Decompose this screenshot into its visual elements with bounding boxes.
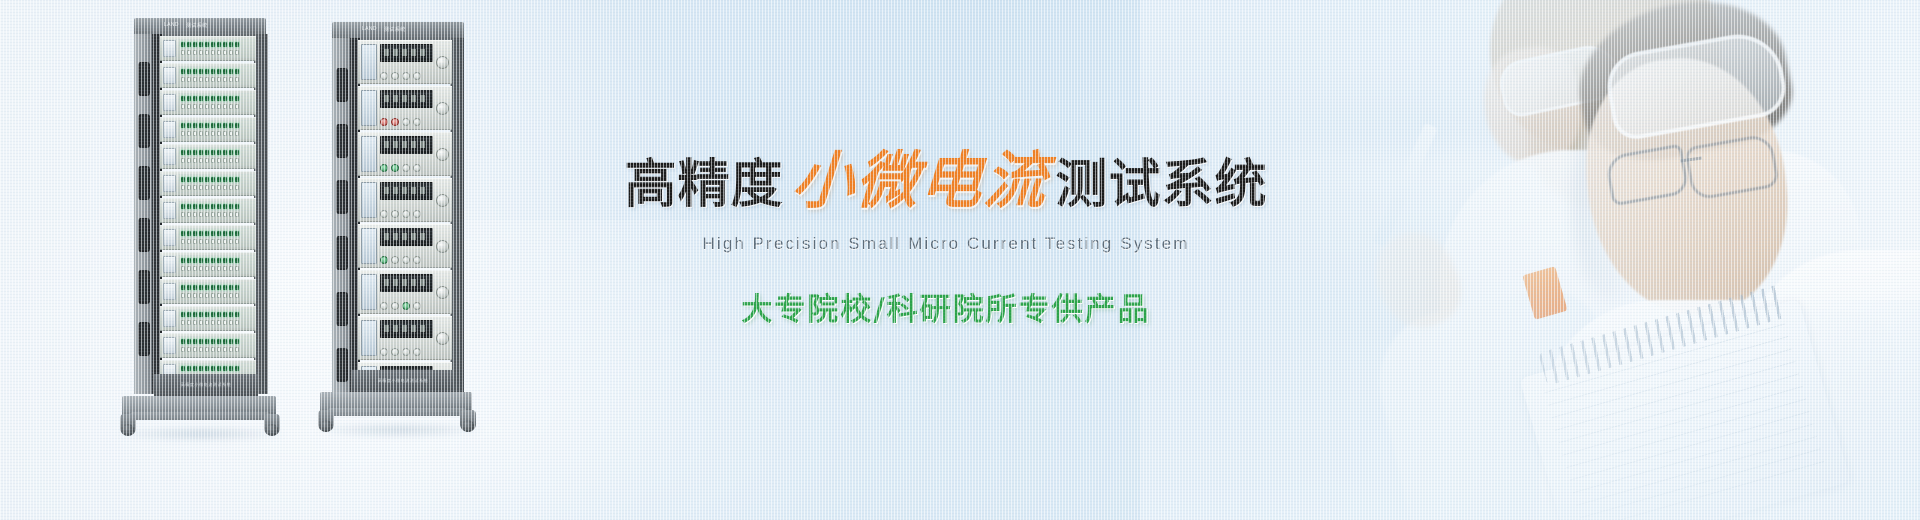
led-indicator [217, 204, 221, 209]
banner-subtitle-english: High Precision Small Micro Current Testi… [626, 234, 1266, 254]
led-indicator [211, 123, 215, 128]
module-center [380, 44, 433, 80]
led-slot [211, 77, 215, 82]
led-slot [193, 212, 197, 217]
led-indicator [187, 177, 191, 182]
led-indicator [205, 123, 209, 128]
led-indicator [199, 204, 203, 209]
led-indicator [205, 339, 209, 344]
module-lcd [361, 320, 377, 356]
module-button-row [380, 70, 433, 80]
led-slot [187, 158, 191, 163]
led-row [181, 285, 254, 290]
led-slot [199, 266, 203, 271]
rack-bottom-label-panel: 高精度小微电流测试系统 [154, 374, 258, 396]
led-slot [199, 104, 203, 109]
led-row [181, 177, 254, 182]
led-slot [187, 185, 191, 190]
led-indicator [223, 258, 227, 263]
rack-vent [336, 68, 348, 102]
led-slot [205, 212, 209, 217]
led-slot [223, 293, 227, 298]
module-button[interactable] [402, 302, 410, 310]
led-indicator [193, 42, 197, 47]
led-slot [211, 131, 215, 136]
led-indicator [205, 285, 209, 290]
led-slot [211, 347, 215, 352]
led-indicator [199, 258, 203, 263]
rack-right-post [254, 34, 268, 394]
product-banner: LAND 测试系统 [0, 0, 1920, 520]
led-slot [193, 185, 197, 190]
led-slot [211, 266, 215, 271]
module-knob[interactable] [436, 102, 449, 115]
led-slot [211, 185, 215, 190]
rack-vent [336, 124, 348, 158]
led-slot [229, 104, 233, 109]
module-button-row [380, 254, 433, 264]
led-slot [223, 131, 227, 136]
led-indicator [187, 312, 191, 317]
led-indicator [211, 231, 215, 236]
led-indicator [217, 177, 221, 182]
led-slot [229, 77, 233, 82]
led-indicator [223, 312, 227, 317]
rack-caster-left [318, 410, 334, 432]
led-slot [217, 293, 221, 298]
rack-module [160, 117, 256, 142]
led-indicator [235, 69, 239, 74]
led-slot [223, 158, 227, 163]
module-display [380, 320, 433, 338]
module-knob[interactable] [436, 332, 449, 345]
led-slot [181, 158, 185, 163]
module-led-array [179, 39, 256, 58]
module-button[interactable] [402, 118, 410, 126]
module-panel [163, 256, 176, 273]
led-indicator [193, 258, 197, 263]
led-indicator [229, 96, 233, 101]
led-indicator [205, 366, 209, 371]
module-button[interactable] [380, 210, 388, 218]
led-indicator [223, 231, 227, 236]
led-slot [229, 158, 233, 163]
led-indicator [181, 339, 185, 344]
led-row [181, 131, 254, 136]
led-indicator [235, 258, 239, 263]
led-indicator [229, 204, 233, 209]
led-indicator [199, 69, 203, 74]
led-indicator [181, 42, 185, 47]
led-indicator [217, 366, 221, 371]
led-indicator [187, 150, 191, 155]
led-slot [217, 212, 221, 217]
module-button[interactable] [413, 302, 421, 310]
led-indicator [229, 285, 233, 290]
rack-vent [138, 62, 150, 96]
led-indicator [229, 312, 233, 317]
led-slot [187, 347, 191, 352]
led-slot [217, 50, 221, 55]
led-slot [211, 104, 215, 109]
module-button[interactable] [402, 210, 410, 218]
module-center [380, 182, 433, 218]
led-indicator [205, 258, 209, 263]
led-slot [217, 77, 221, 82]
module-panel [163, 229, 176, 246]
led-slot [199, 158, 203, 163]
led-indicator [229, 177, 233, 182]
led-slot [217, 185, 221, 190]
instrument-module [358, 132, 452, 176]
led-row [181, 231, 254, 236]
banner-text-block: 高精度 小微电流 测试系统 High Precision Small Micro… [626, 150, 1266, 329]
led-row [181, 239, 254, 244]
led-indicator [217, 285, 221, 290]
led-slot [193, 50, 197, 55]
rack-module [160, 171, 256, 196]
led-indicator [235, 339, 239, 344]
led-indicator [235, 96, 239, 101]
led-indicator [199, 285, 203, 290]
led-slot [193, 347, 197, 352]
led-indicator [187, 123, 191, 128]
rack-brand-plate: LAND 测试系统 [164, 20, 268, 30]
led-slot [217, 347, 221, 352]
led-indicator [223, 150, 227, 155]
led-indicator [205, 312, 209, 317]
module-panel [163, 310, 176, 327]
led-indicator [199, 366, 203, 371]
module-button[interactable] [413, 72, 421, 80]
module-button[interactable] [391, 256, 399, 264]
module-button[interactable] [391, 164, 399, 172]
rack-vent [138, 166, 150, 200]
rack-model-label: 测试系统 [186, 22, 208, 29]
led-slot [193, 266, 197, 271]
rack-vent [336, 236, 348, 270]
led-slot [229, 212, 233, 217]
led-indicator [181, 312, 185, 317]
module-display [380, 44, 433, 62]
rack-module [160, 306, 256, 331]
rack-base-bar [130, 412, 270, 420]
led-indicator [199, 150, 203, 155]
led-slot [193, 293, 197, 298]
rack-body: LAND 测试系统 [318, 22, 476, 434]
led-row [181, 320, 254, 325]
rack-right-post [450, 38, 464, 398]
rack-base-bar [328, 408, 466, 416]
led-indicator [235, 204, 239, 209]
led-indicator [193, 96, 197, 101]
led-indicator [217, 69, 221, 74]
module-button-row [380, 300, 433, 310]
led-row [181, 293, 254, 298]
led-indicator [193, 285, 197, 290]
led-slot [205, 239, 209, 244]
rack-module [160, 63, 256, 88]
led-slot [235, 320, 239, 325]
rack-body: LAND 测试系统 [120, 18, 280, 438]
rack-vent [336, 348, 348, 382]
module-button[interactable] [413, 348, 421, 356]
module-button[interactable] [380, 118, 388, 126]
led-slot [199, 212, 203, 217]
led-row [181, 204, 254, 209]
module-display [380, 228, 433, 246]
led-indicator [223, 204, 227, 209]
led-slot [229, 266, 233, 271]
led-indicator [205, 69, 209, 74]
led-slot [181, 212, 185, 217]
led-indicator [223, 42, 227, 47]
led-indicator [199, 312, 203, 317]
led-row [181, 50, 254, 55]
led-slot [181, 104, 185, 109]
module-button[interactable] [413, 164, 421, 172]
led-indicator [181, 204, 185, 209]
module-button[interactable] [391, 72, 399, 80]
led-row [181, 312, 254, 317]
led-indicator [235, 285, 239, 290]
led-slot [193, 131, 197, 136]
led-indicator [217, 312, 221, 317]
led-slot [193, 239, 197, 244]
led-indicator [199, 123, 203, 128]
module-button[interactable] [402, 164, 410, 172]
module-panel [163, 40, 176, 57]
instrument-module [358, 316, 452, 360]
led-indicator [187, 285, 191, 290]
module-button[interactable] [380, 256, 388, 264]
led-indicator [187, 231, 191, 236]
led-indicator [217, 150, 221, 155]
headline-part-2: 小微电流 [789, 150, 1049, 212]
led-slot [187, 50, 191, 55]
rack-brand-label: LAND [164, 22, 179, 28]
rack-vent [336, 180, 348, 214]
led-indicator [217, 96, 221, 101]
module-led-array [179, 255, 256, 274]
module-lcd [361, 182, 377, 218]
module-led-array [179, 66, 256, 85]
module-button[interactable] [380, 348, 388, 356]
led-slot [205, 77, 209, 82]
module-lcd [361, 274, 377, 310]
led-slot [181, 293, 185, 298]
led-indicator [181, 366, 185, 371]
led-slot [217, 239, 221, 244]
led-indicator [193, 339, 197, 344]
led-slot [229, 320, 233, 325]
module-button[interactable] [391, 348, 399, 356]
module-button[interactable] [391, 118, 399, 126]
led-indicator [211, 96, 215, 101]
led-indicator [199, 96, 203, 101]
led-slot [223, 77, 227, 82]
module-lcd [361, 136, 377, 172]
module-button[interactable] [402, 72, 410, 80]
led-indicator [181, 285, 185, 290]
led-slot [205, 131, 209, 136]
module-knob[interactable] [436, 148, 449, 161]
led-indicator [187, 42, 191, 47]
led-indicator [181, 123, 185, 128]
led-slot [223, 239, 227, 244]
led-slot [199, 50, 203, 55]
led-slot [235, 212, 239, 217]
rack-module [160, 198, 256, 223]
led-slot [217, 104, 221, 109]
led-slot [235, 50, 239, 55]
led-row [181, 185, 254, 190]
led-slot [199, 185, 203, 190]
led-indicator [193, 123, 197, 128]
module-button[interactable] [413, 256, 421, 264]
led-slot [229, 293, 233, 298]
rack-bottom-label-panel: 高精度小微电流测试系统 [352, 370, 454, 392]
module-knob[interactable] [436, 286, 449, 299]
rack-module [160, 333, 256, 358]
led-slot [229, 185, 233, 190]
module-button[interactable] [391, 210, 399, 218]
led-slot [205, 158, 209, 163]
module-button[interactable] [413, 210, 421, 218]
module-button-row [380, 208, 433, 218]
led-indicator [193, 231, 197, 236]
module-knob[interactable] [436, 240, 449, 253]
led-slot [187, 212, 191, 217]
module-display [380, 136, 433, 154]
led-slot [211, 158, 215, 163]
module-center [380, 274, 433, 310]
instrument-module [358, 178, 452, 222]
led-indicator [229, 69, 233, 74]
led-row [181, 150, 254, 155]
module-panel [163, 283, 176, 300]
led-slot [193, 77, 197, 82]
module-knob[interactable] [436, 56, 449, 69]
equipment-rack-left: LAND 测试系统 [120, 18, 280, 438]
led-slot [193, 104, 197, 109]
led-slot [199, 77, 203, 82]
led-slot [205, 185, 209, 190]
module-button[interactable] [402, 256, 410, 264]
led-indicator [223, 69, 227, 74]
module-button[interactable] [402, 348, 410, 356]
led-indicator [193, 204, 197, 209]
led-indicator [211, 258, 215, 263]
led-slot [235, 185, 239, 190]
led-row [181, 104, 254, 109]
module-button[interactable] [391, 302, 399, 310]
led-slot [217, 266, 221, 271]
module-led-array [179, 147, 256, 166]
module-button[interactable] [380, 164, 388, 172]
module-panel [163, 337, 176, 354]
module-led-array [179, 120, 256, 139]
rack-module-stack [358, 40, 452, 406]
module-knob[interactable] [436, 194, 449, 207]
led-slot [193, 320, 197, 325]
rack-module [160, 90, 256, 115]
module-button-row [380, 116, 433, 126]
rack-brand-label: LAND [362, 26, 377, 32]
module-panel [163, 148, 176, 165]
equipment-rack-right: LAND 测试系统 [318, 22, 476, 434]
module-display [380, 182, 433, 200]
led-slot [181, 320, 185, 325]
led-indicator [181, 96, 185, 101]
module-button[interactable] [380, 72, 388, 80]
led-slot [235, 158, 239, 163]
led-slot [181, 50, 185, 55]
led-slot [181, 347, 185, 352]
led-slot [181, 131, 185, 136]
led-slot [235, 293, 239, 298]
led-indicator [193, 150, 197, 155]
instrument-module [358, 86, 452, 130]
led-row [181, 347, 254, 352]
led-slot [205, 293, 209, 298]
led-slot [187, 266, 191, 271]
led-slot [235, 239, 239, 244]
led-indicator [205, 204, 209, 209]
led-slot [199, 320, 203, 325]
led-indicator [187, 69, 191, 74]
module-center [380, 136, 433, 172]
rack-vent [138, 218, 150, 252]
rack-module [160, 252, 256, 277]
led-indicator [211, 366, 215, 371]
led-indicator [211, 42, 215, 47]
led-slot [211, 293, 215, 298]
led-indicator [199, 177, 203, 182]
led-indicator [193, 312, 197, 317]
led-row [181, 69, 254, 74]
led-indicator [181, 69, 185, 74]
module-button[interactable] [413, 118, 421, 126]
led-row [181, 158, 254, 163]
led-indicator [229, 42, 233, 47]
led-indicator [235, 366, 239, 371]
led-indicator [181, 177, 185, 182]
led-slot [235, 131, 239, 136]
module-button[interactable] [380, 302, 388, 310]
rack-model-label: 测试系统 [384, 26, 406, 33]
led-indicator [187, 366, 191, 371]
module-center [380, 90, 433, 126]
led-slot [205, 320, 209, 325]
led-slot [187, 320, 191, 325]
led-slot [199, 347, 203, 352]
module-panel [163, 67, 176, 84]
led-slot [187, 293, 191, 298]
led-slot [181, 239, 185, 244]
led-slot [187, 77, 191, 82]
led-indicator [199, 231, 203, 236]
banner-tagline-chinese: 大专院校/科研院所专供产品 [626, 284, 1266, 329]
led-indicator [211, 339, 215, 344]
led-indicator [187, 339, 191, 344]
led-slot [223, 185, 227, 190]
rack-module [160, 279, 256, 304]
rack-bottom-label: 高精度小微电流测试系统 [181, 382, 232, 388]
led-indicator [229, 339, 233, 344]
led-indicator [229, 150, 233, 155]
module-lcd [361, 228, 377, 264]
